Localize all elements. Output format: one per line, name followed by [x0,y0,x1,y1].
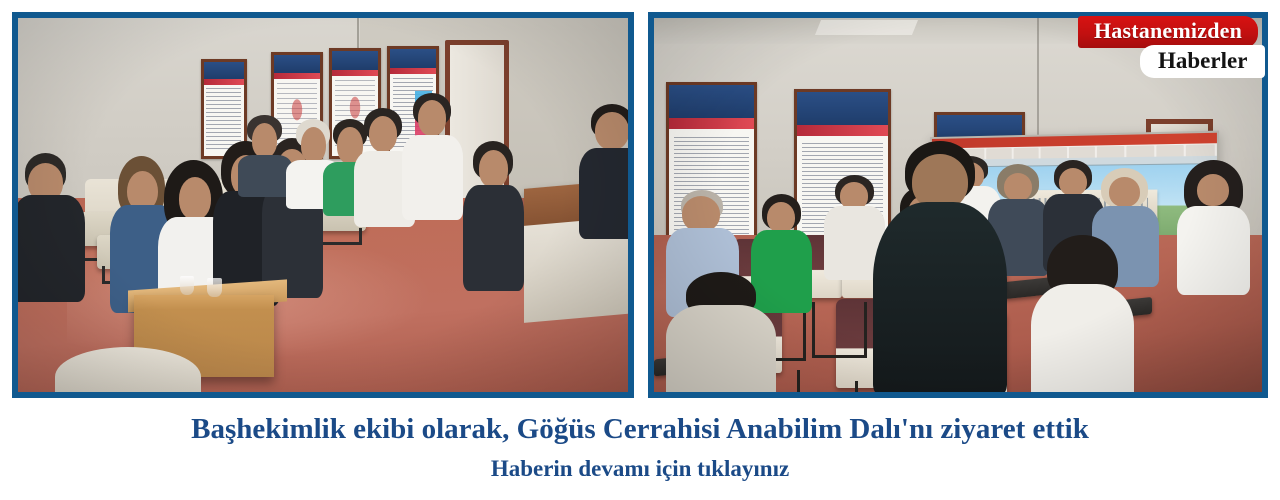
photo-left-scene [18,18,628,392]
tea-glass [207,278,222,297]
news-banner: Hastanemizden Haberler Başhekimlik ekibi… [0,0,1280,500]
caption-line-2[interactable]: Haberin devamı için tıklayınız [0,455,1280,483]
attendee [18,153,85,303]
attendee [1177,160,1250,295]
attendee [402,93,463,220]
chair-legs [812,302,867,357]
badge-hastanemizden[interactable]: Hastanemizden [1078,16,1258,48]
photo-left[interactable] [12,12,634,398]
attendee [666,272,775,392]
caption-line-1: Başhekimlik ekibi olarak, Göğüs Cerrahis… [0,412,1280,446]
tea-glass [180,276,195,295]
attendee [463,141,524,291]
attendee [579,104,628,239]
attendee-foreground [873,141,1007,392]
ceiling-light [815,20,918,35]
attendee [238,115,293,197]
attendee [1031,235,1134,392]
badge-haberler[interactable]: Haberler [1140,45,1265,78]
